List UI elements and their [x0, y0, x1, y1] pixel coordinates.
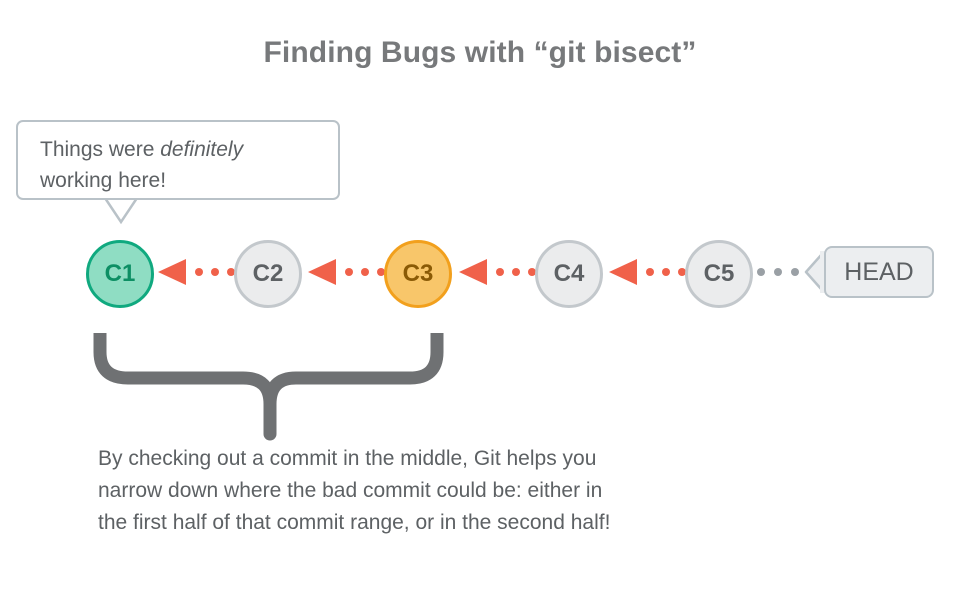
- commit-node-c2[interactable]: C2: [234, 240, 302, 308]
- head-badge-label: HEAD: [844, 258, 913, 287]
- caption-line-3: the first half of that commit range, or …: [98, 507, 868, 539]
- speech-bubble-tail: [105, 198, 137, 222]
- commit-node-c1-label: C1: [105, 260, 136, 288]
- commit-node-c2-label: C2: [253, 260, 284, 288]
- arrow-c4-to-c3: [459, 259, 536, 285]
- caption-line-1: By checking out a commit in the middle, …: [98, 443, 868, 475]
- speech-bubble-text: Things were definitelyworking here!: [40, 134, 330, 196]
- bubble-line2: working here!: [40, 169, 166, 192]
- connector-head-to-c5: [757, 268, 799, 276]
- commit-node-c4-label: C4: [554, 260, 585, 288]
- commit-node-c5[interactable]: C5: [685, 240, 753, 308]
- commit-node-c4[interactable]: C4: [535, 240, 603, 308]
- head-pointer-tab: [806, 254, 822, 290]
- caption-line-2: narrow down where the bad commit could b…: [98, 475, 868, 507]
- commit-node-c3[interactable]: C3: [384, 240, 452, 308]
- bubble-line1-prefix: Things were: [40, 138, 160, 161]
- arrow-c3-to-c2: [308, 259, 385, 285]
- bubble-emphasis-definitely: definitely: [160, 138, 243, 161]
- commit-node-c5-label: C5: [704, 260, 735, 288]
- commit-node-c3-label: C3: [403, 260, 434, 288]
- arrow-c2-to-c1: [158, 259, 235, 285]
- arrow-c5-to-c4: [609, 259, 686, 285]
- commit-node-c1[interactable]: C1: [86, 240, 154, 308]
- speech-bubble: Things were definitelyworking here!: [16, 120, 340, 200]
- range-brace: [100, 333, 437, 434]
- head-badge[interactable]: HEAD: [824, 246, 934, 298]
- page-title: Finding Bugs with “git bisect”: [0, 36, 960, 70]
- caption: By checking out a commit in the middle, …: [98, 443, 868, 539]
